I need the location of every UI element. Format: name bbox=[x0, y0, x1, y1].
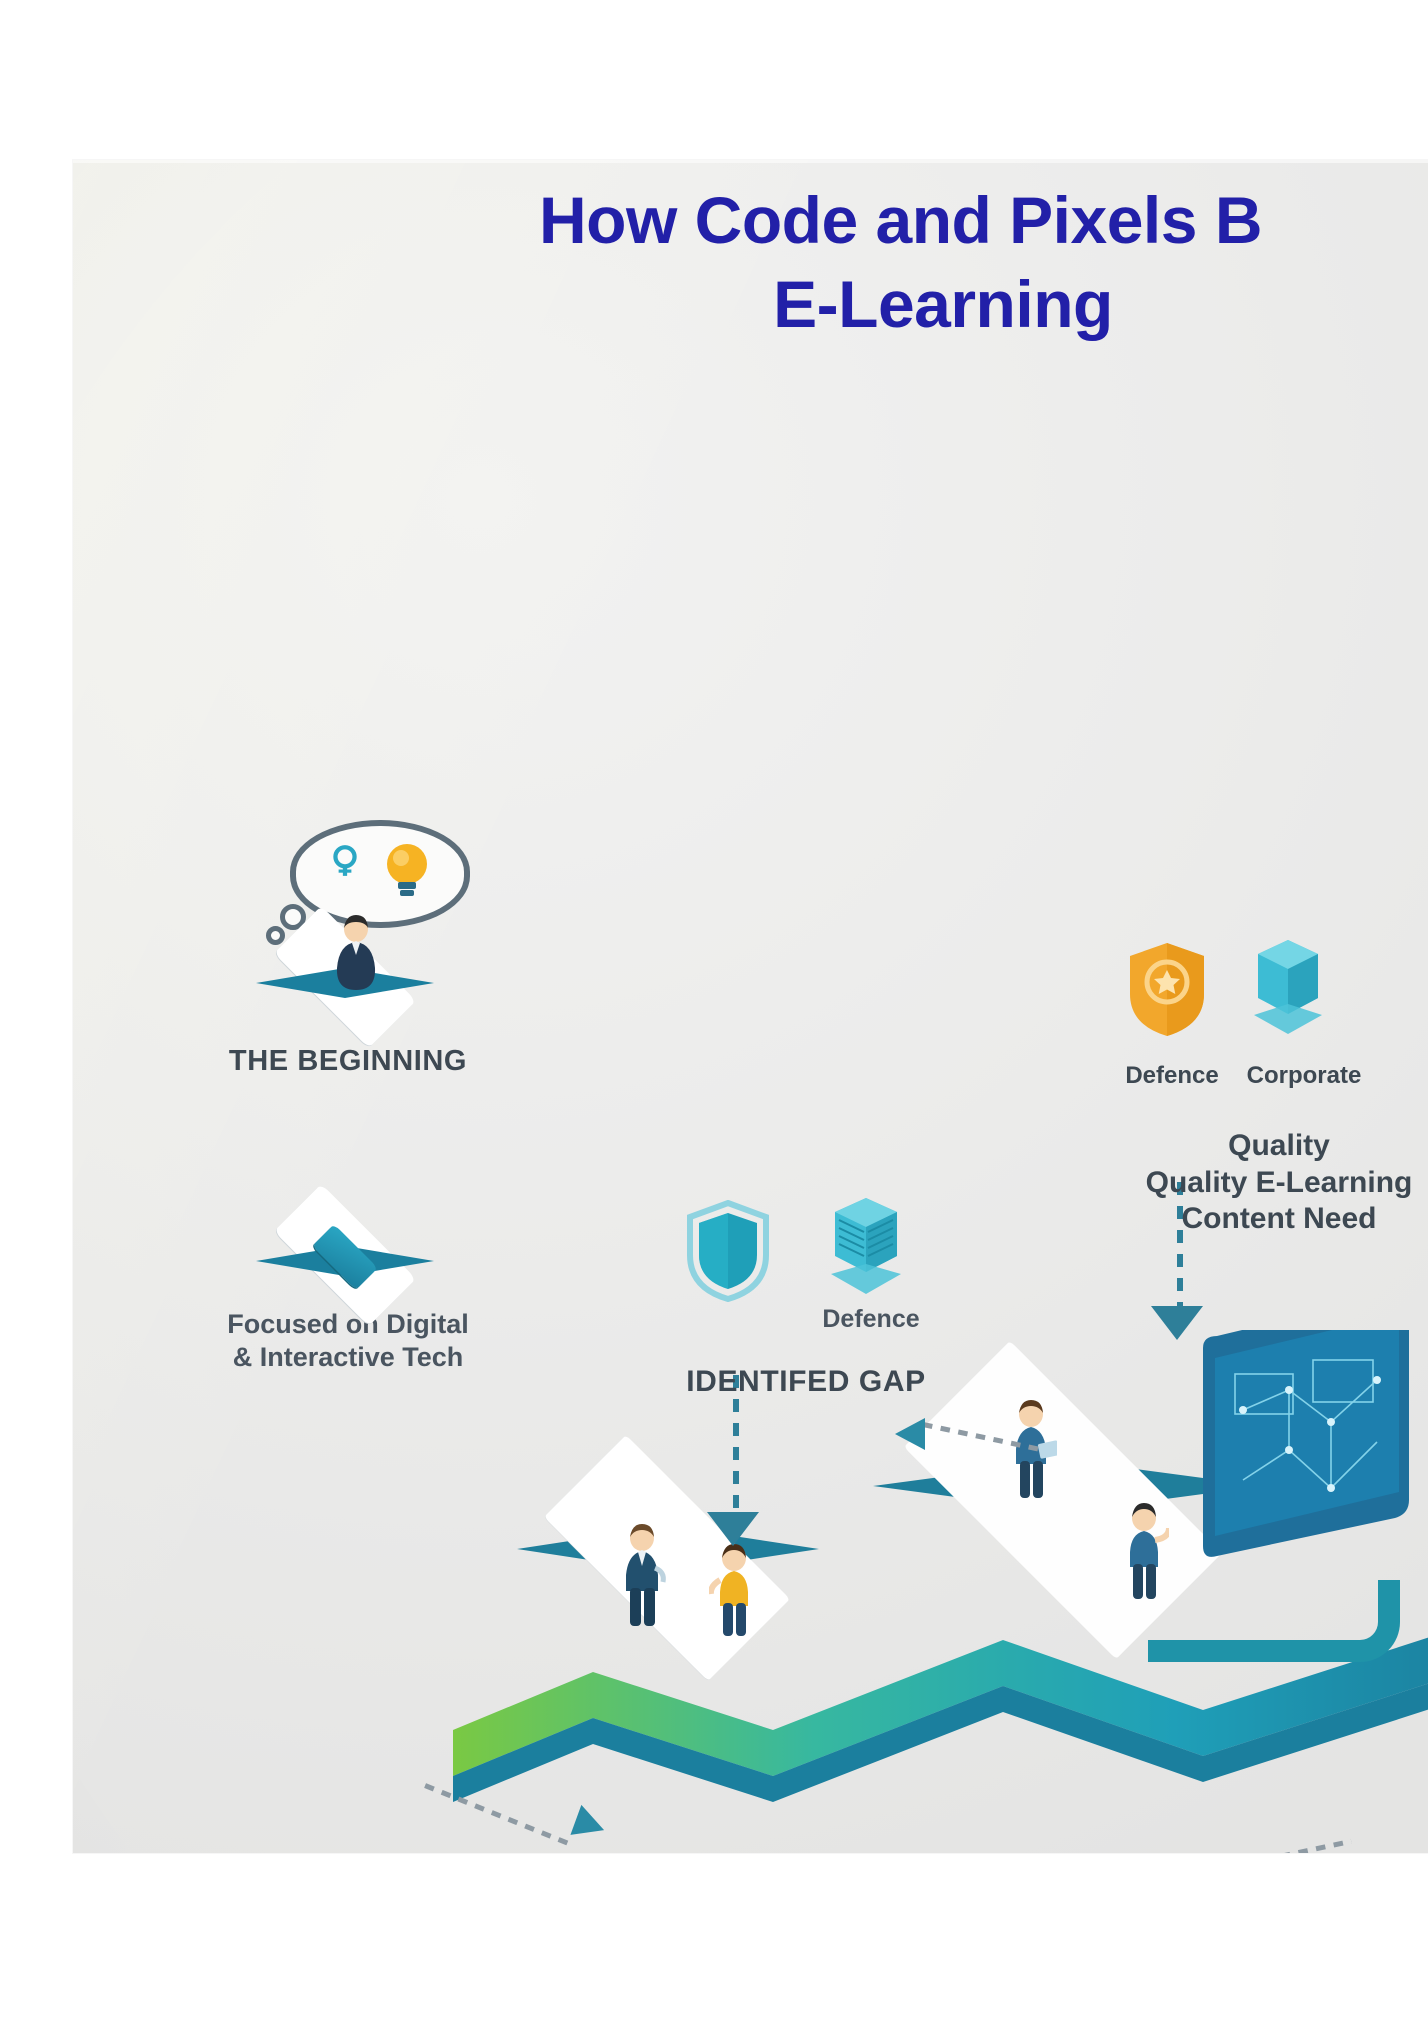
quality-text-line3: Content Need bbox=[1090, 1201, 1428, 1238]
building-icon bbox=[823, 1194, 909, 1298]
photo-background: How Code and Pixels B E-Learning bbox=[0, 0, 1428, 2018]
stage-identified-gap: Defence IDENTIFED GAP bbox=[673, 1200, 1033, 1399]
person-pointing-at-screen bbox=[1119, 1500, 1169, 1602]
building-icon bbox=[1248, 936, 1328, 1036]
arrow-quality-down-head bbox=[1151, 1306, 1203, 1340]
network-diagram-monitor bbox=[1163, 1330, 1413, 1580]
person-thinking-icon bbox=[328, 914, 384, 994]
gap-caption: IDENTIFED GAP bbox=[579, 1364, 1033, 1399]
quality-text-line1: Quality bbox=[1090, 1128, 1428, 1165]
quality-icon-labels: Defence Corporate bbox=[1108, 1062, 1428, 1090]
digital-caption: Focused on Digital & Interactive Tech bbox=[168, 1308, 528, 1374]
gap-illustration: Defence bbox=[673, 1200, 1033, 1340]
quality-illustration bbox=[1108, 940, 1428, 1060]
platform-meeting bbox=[503, 1470, 833, 1670]
presentation-slide: How Code and Pixels B E-Learning bbox=[73, 160, 1428, 1853]
title-line-2: E-Learning bbox=[458, 262, 1428, 346]
quality-text-line2: Quality E-Learning bbox=[1090, 1165, 1428, 1202]
title-line-1: How Code and Pixels B bbox=[373, 178, 1428, 262]
arrow-middle-diagonal-head bbox=[895, 1418, 925, 1450]
quality-label-corporate: Corporate bbox=[1246, 1062, 1362, 1090]
digital-caption-line1: Focused on Digital bbox=[168, 1308, 528, 1341]
slide-title: How Code and Pixels B E-Learning bbox=[73, 178, 1428, 347]
quality-text-block: Quality Quality E-Learning Content Need bbox=[1090, 1128, 1428, 1238]
gap-defence-label: Defence bbox=[781, 1304, 961, 1335]
beginning-caption: THE BEGINNING bbox=[168, 1044, 528, 1078]
beginning-illustration bbox=[168, 810, 528, 1040]
digital-caption-line2: & Interactive Tech bbox=[168, 1341, 528, 1374]
person-yellow-shirt bbox=[709, 1542, 759, 1638]
gear-icon bbox=[328, 844, 362, 878]
person-suit bbox=[615, 1522, 669, 1628]
shield-award-icon bbox=[1124, 940, 1210, 1040]
stage-the-beginning: THE BEGINNING bbox=[168, 810, 528, 1078]
quality-label-defence: Defence bbox=[1114, 1062, 1230, 1090]
stage-quality-need: Defence Corporate Quality Quality E-Lear… bbox=[1108, 940, 1428, 1238]
decorative-elbow-shape bbox=[1148, 1580, 1400, 1662]
shield-icon bbox=[685, 1200, 771, 1302]
stage-focused-digital: Focused on Digital & Interactive Tech bbox=[168, 1190, 528, 1374]
arrow-gap-down-head bbox=[707, 1512, 759, 1546]
lightbulb-icon bbox=[384, 840, 430, 900]
